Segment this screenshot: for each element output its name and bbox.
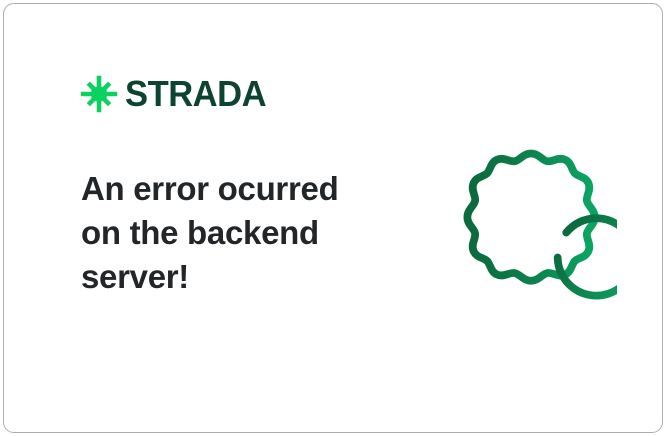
error-message-line-2: on the backend — [81, 211, 381, 255]
error-message: An error ocurred on the backend server! — [81, 167, 381, 299]
strada-asterisk-icon — [80, 75, 118, 113]
strada-logo: STRADA — [80, 72, 272, 116]
error-page-screen: STRADA An error ocurred on the backend s… — [0, 0, 666, 436]
error-card: STRADA An error ocurred on the backend s… — [3, 3, 663, 433]
gear-illustration — [445, 138, 617, 310]
error-message-line-1: An error ocurred — [81, 167, 381, 211]
strada-wordmark: STRADA — [125, 76, 266, 112]
error-message-line-3: server! — [81, 255, 381, 299]
gear-cog-icon — [445, 138, 617, 310]
